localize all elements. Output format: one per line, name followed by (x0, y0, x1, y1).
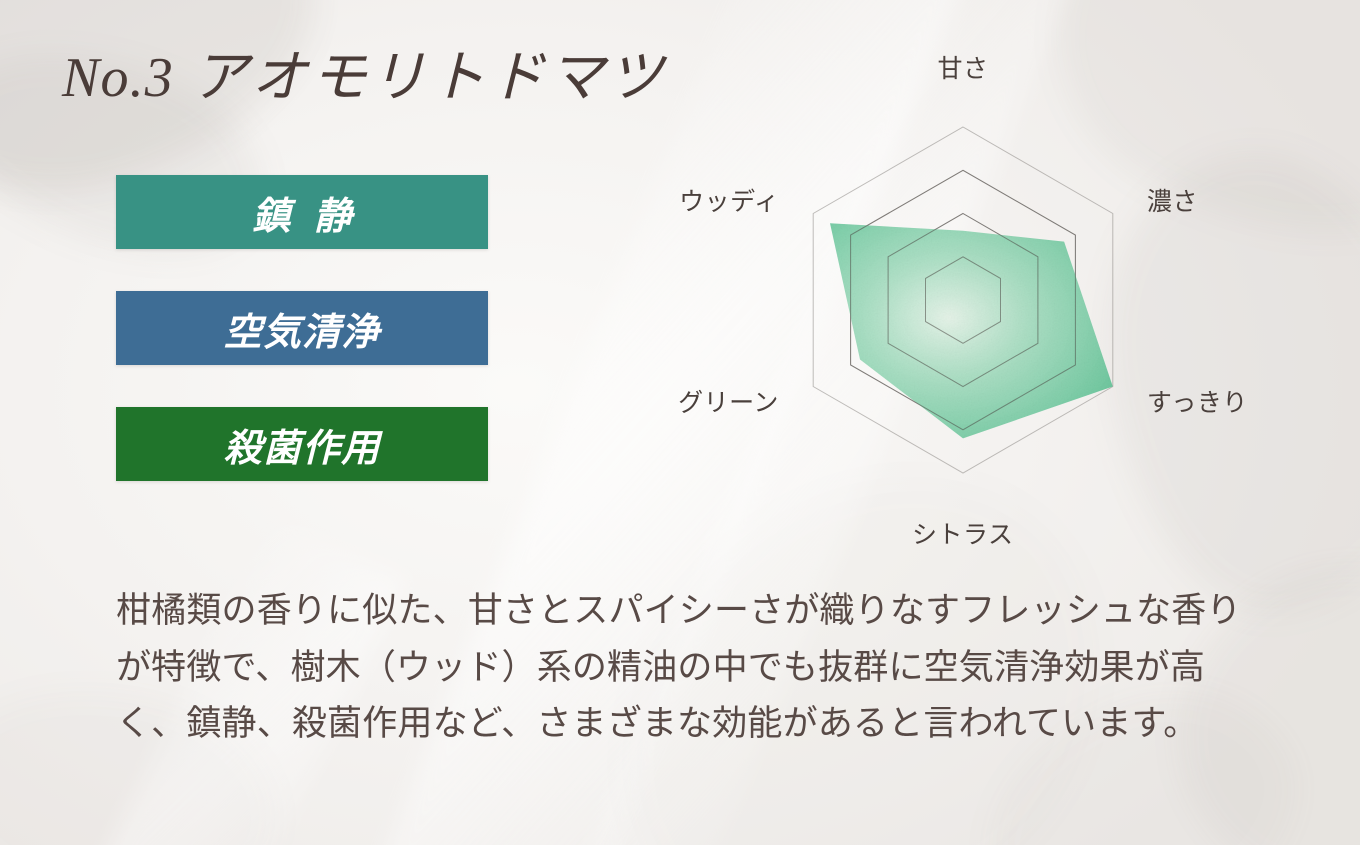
effect-badge-list: 鎮静 空気清浄 殺菌作用 (116, 175, 488, 481)
radar-axis-label-sweetness: 甘さ (938, 49, 989, 85)
effect-badge-label: 殺菌作用 (224, 417, 381, 472)
effect-badge-antibacterial: 殺菌作用 (116, 407, 488, 481)
radar-axis-label-refreshing: すっきり (1147, 383, 1248, 419)
slide-background: No.3アオモリトドマツ 鎮静 空気清浄 殺菌作用 柑橘類の香りに似た、甘さとス… (0, 0, 1360, 845)
effect-badge-air-purifying: 空気清浄 (116, 291, 488, 365)
description-text: 柑橘類の香りに似た、甘さとスパイシーさが織りなすフレッシュな香りが特徴で、樹木（… (116, 583, 1256, 753)
radar-chart-svg (660, 55, 1280, 535)
radar-axis-label-green: グリーン (678, 383, 779, 419)
effect-badge-sedative: 鎮静 (116, 175, 488, 249)
page-title: No.3アオモリトドマツ (62, 47, 667, 110)
effect-badge-label: 空気清浄 (224, 301, 381, 356)
title-number: No.3 (62, 47, 174, 109)
radar-axis-label-woody: ウッディ (679, 182, 779, 218)
radar-axis-label-citrus: シトラス (912, 515, 1014, 551)
scent-radar-chart: 甘さ 濃さ すっきり シトラス グリーン ウッディ (660, 55, 1280, 535)
title-name: アオモリトドマツ (192, 45, 667, 110)
radar-axis-label-richness: 濃さ (1147, 182, 1198, 218)
effect-badge-label: 鎮静 (229, 185, 376, 240)
radar-data-area (830, 170, 1113, 438)
